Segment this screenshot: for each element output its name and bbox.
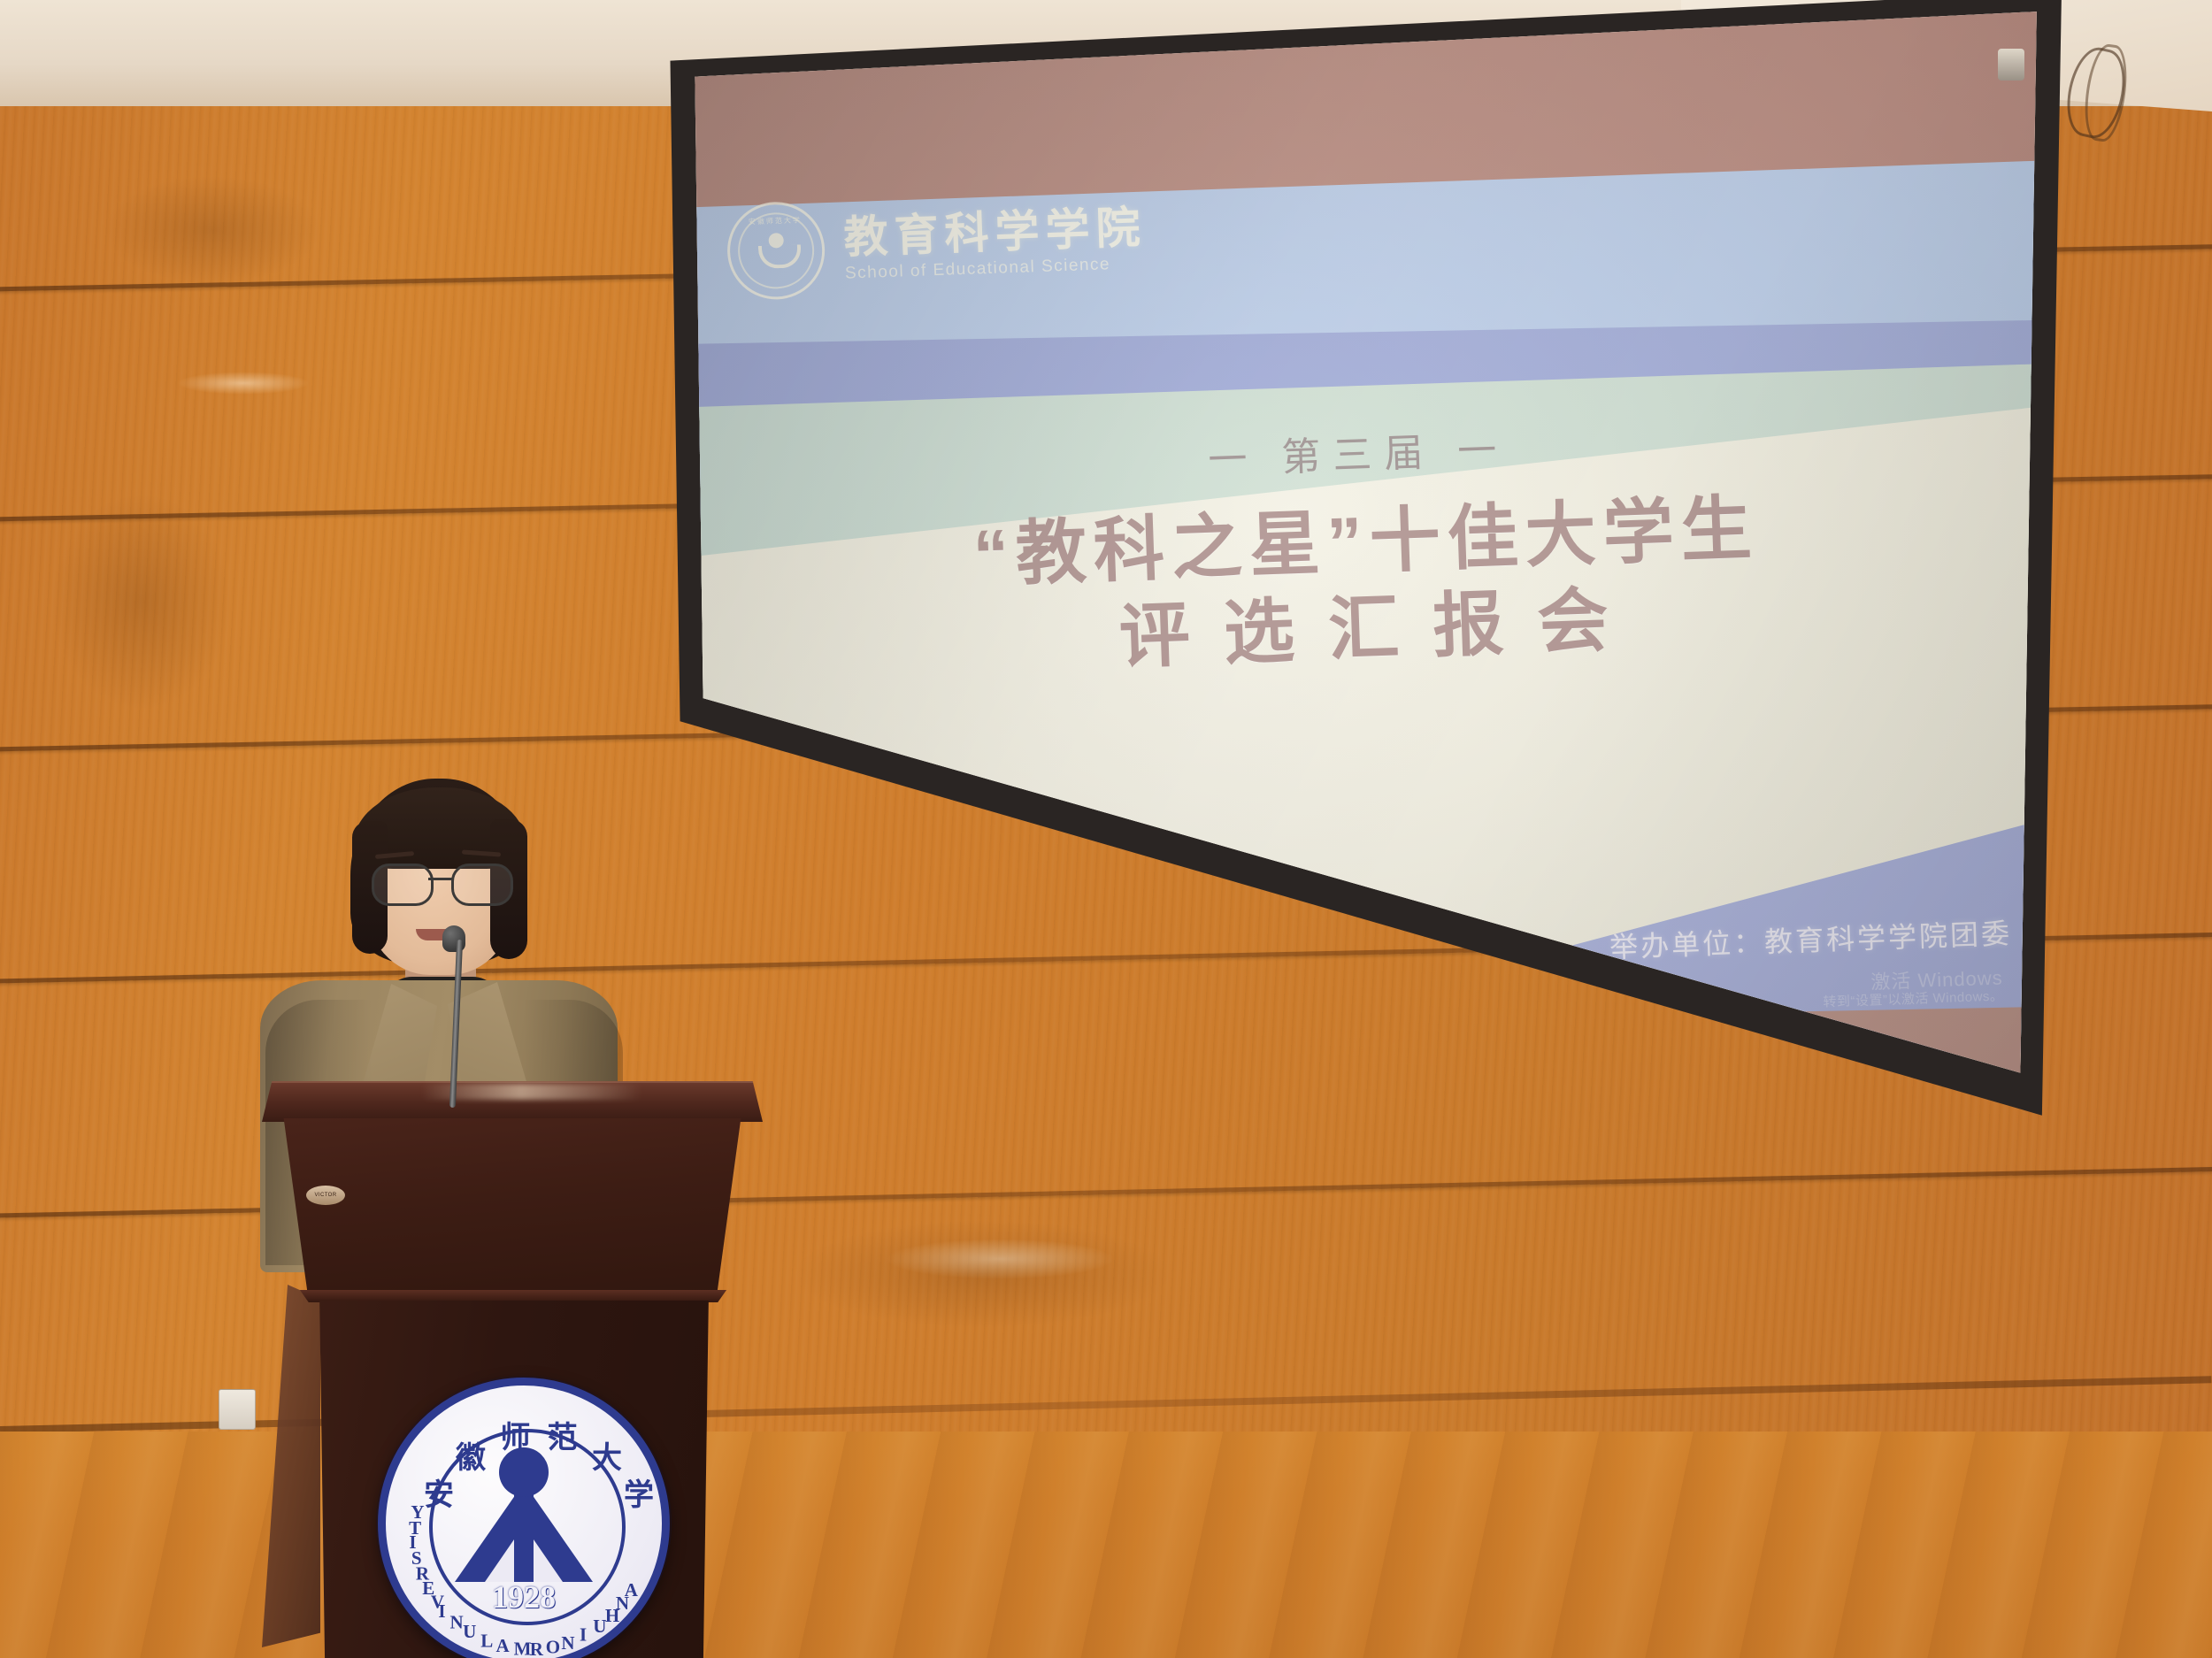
glasses-lens-left — [372, 864, 434, 906]
seal-figure-stem — [514, 1486, 534, 1582]
lectern-podium: VICTOR 安 徽 师 范 大 学 A N H U I N O R — [250, 1081, 780, 1658]
podium-brand-badge: VICTOR — [306, 1186, 345, 1205]
glasses-lens-right — [451, 864, 513, 906]
photo-scene: 安徽师范大学 教育科学学院 School of Educational Scie… — [0, 0, 2212, 1658]
podium-top-surface — [262, 1081, 763, 1122]
seal-figure-mark — [455, 1447, 593, 1582]
university-seal-icon: 安 徽 师 范 大 学 A N H U I N O R M A L U N — [378, 1378, 670, 1658]
slide-headline-block: 一 第三届 一 “教科之星”十佳大学生 评 选 汇 报 会 — [681, 399, 2042, 695]
seal-founding-year: 1928 — [386, 1578, 662, 1616]
school-name-block: 教育科学学院 School of Educational Science — [843, 204, 1148, 281]
school-logo-lockup: 安徽师范大学 教育科学学院 School of Educational Scie… — [726, 189, 1148, 301]
glasses-bridge — [428, 878, 453, 880]
seal-arc-bottom-text — [732, 285, 824, 288]
podium-lip — [296, 1290, 731, 1302]
seal-figure-head — [499, 1447, 549, 1497]
glasses-icon — [366, 864, 515, 902]
podium-front-face — [250, 1118, 775, 1292]
seal-arc-top-text: 安徽师范大学 — [729, 215, 821, 228]
seal-emblem-mark — [756, 233, 795, 270]
screen-mount-bracket — [1998, 49, 2024, 81]
school-seal-icon: 安徽师范大学 — [726, 200, 826, 301]
podium-side-panel — [262, 1285, 320, 1647]
school-name-cn: 教育科学学院 — [843, 204, 1148, 259]
windows-activation-watermark: 激活 Windows 转到“设置”以激活 Windows。 — [1822, 966, 2003, 1010]
